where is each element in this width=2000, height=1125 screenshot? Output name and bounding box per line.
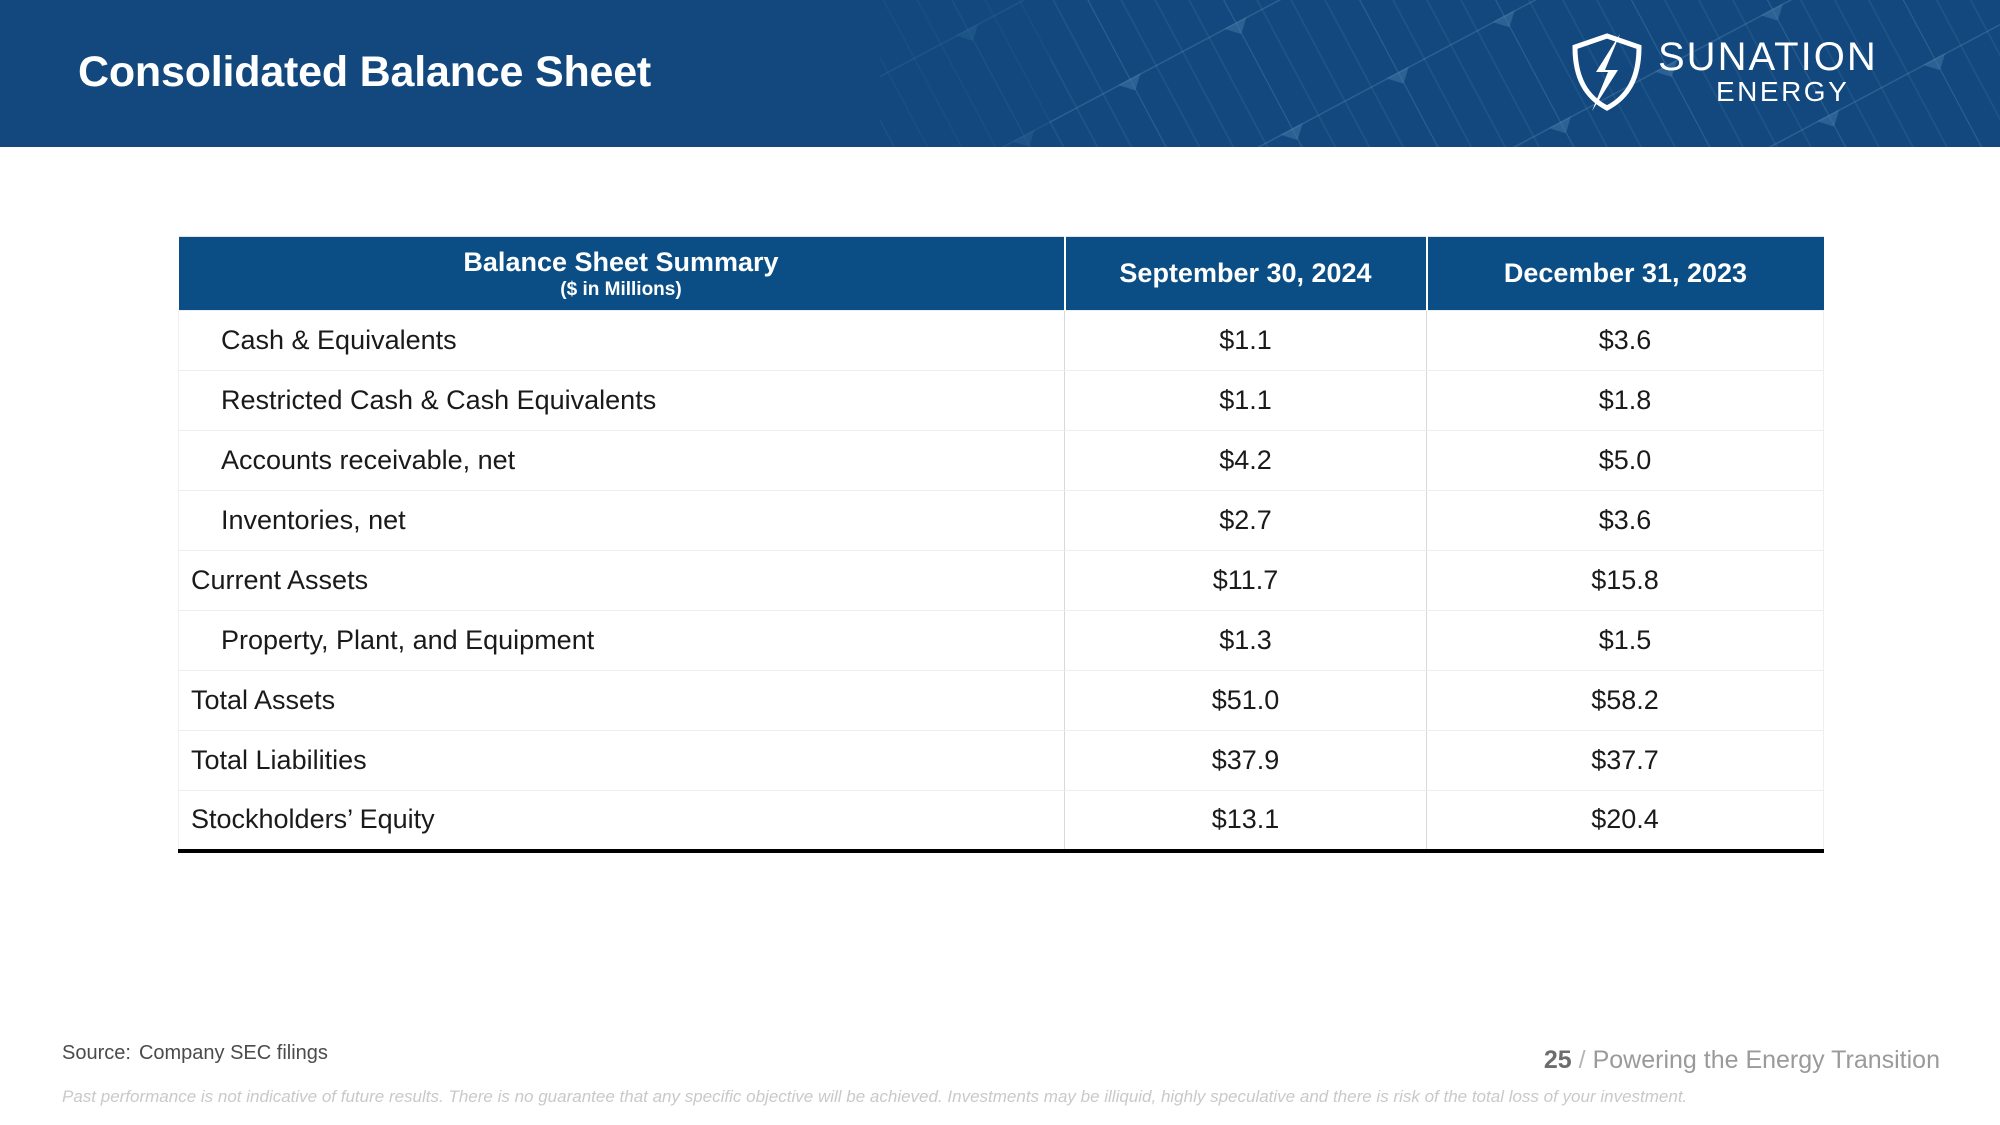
- table-body: Cash & Equivalents$1.1$3.6Restricted Cas…: [179, 311, 1824, 851]
- row-value-period-1: $1.1: [1065, 311, 1427, 371]
- table-row: Total Liabilities$37.9$37.7: [179, 731, 1824, 791]
- logo-secondary-text: ENERGY: [1716, 76, 1849, 105]
- column-header-summary: Balance Sheet Summary ($ in Millions): [179, 237, 1065, 311]
- table-header-row: Balance Sheet Summary ($ in Millions) Se…: [179, 237, 1824, 311]
- table-row: Property, Plant, and Equipment$1.3$1.5: [179, 611, 1824, 671]
- row-label: Cash & Equivalents: [179, 311, 1065, 371]
- row-label: Accounts receivable, net: [179, 431, 1065, 491]
- row-value-period-2: $15.8: [1427, 551, 1824, 611]
- row-value-period-2: $20.4: [1427, 791, 1824, 851]
- row-label: Property, Plant, and Equipment: [179, 611, 1065, 671]
- row-value-period-1: $37.9: [1065, 731, 1427, 791]
- row-value-period-2: $5.0: [1427, 431, 1824, 491]
- page-tagline: Powering the Energy Transition: [1593, 1046, 1940, 1075]
- row-value-period-1: $51.0: [1065, 671, 1427, 731]
- row-label: Restricted Cash & Cash Equivalents: [179, 371, 1065, 431]
- row-value-period-2: $37.7: [1427, 731, 1824, 791]
- page-number: 25: [1544, 1046, 1572, 1075]
- row-label: Inventories, net: [179, 491, 1065, 551]
- balance-sheet-table: Balance Sheet Summary ($ in Millions) Se…: [178, 236, 1824, 853]
- table-row: Accounts receivable, net$4.2$5.0: [179, 431, 1824, 491]
- table-row: Current Assets$11.7$15.8: [179, 551, 1824, 611]
- table-row: Restricted Cash & Cash Equivalents$1.1$1…: [179, 371, 1824, 431]
- table-row: Stockholders’ Equity$13.1$20.4: [179, 791, 1824, 851]
- row-value-period-1: $1.3: [1065, 611, 1427, 671]
- column-header-period-2: December 31, 2023: [1427, 237, 1824, 311]
- row-label: Stockholders’ Equity: [179, 791, 1065, 851]
- page-separator: /: [1579, 1046, 1586, 1075]
- row-value-period-1: $11.7: [1065, 551, 1427, 611]
- row-value-period-2: $58.2: [1427, 671, 1824, 731]
- row-value-period-1: $2.7: [1065, 491, 1427, 551]
- logo-primary-text: SUNATION: [1658, 39, 1878, 79]
- row-label: Total Assets: [179, 671, 1065, 731]
- row-value-period-2: $3.6: [1427, 491, 1824, 551]
- row-value-period-2: $3.6: [1427, 311, 1824, 371]
- page-title: Consolidated Balance Sheet: [78, 48, 651, 97]
- balance-sheet-table-container: Balance Sheet Summary ($ in Millions) Se…: [178, 236, 1823, 853]
- company-logo: SUNATION ENERGY: [1570, 32, 1958, 112]
- logo-wordmark: SUNATION ENERGY: [1658, 39, 1958, 105]
- column-header-period-1: September 30, 2024: [1065, 237, 1427, 311]
- source-label: Source:: [62, 1042, 131, 1064]
- row-label: Total Liabilities: [179, 731, 1065, 791]
- table-header: Balance Sheet Summary ($ in Millions) Se…: [179, 237, 1824, 311]
- row-label: Current Assets: [179, 551, 1065, 611]
- column-header-summary-units: ($ in Millions): [187, 279, 1056, 300]
- shield-lightning-icon: [1570, 32, 1644, 112]
- column-header-summary-main: Balance Sheet Summary: [463, 247, 778, 277]
- table-row: Cash & Equivalents$1.1$3.6: [179, 311, 1824, 371]
- table-row: Inventories, net$2.7$3.6: [179, 491, 1824, 551]
- source-value: Company SEC filings: [139, 1042, 328, 1064]
- row-value-period-2: $1.8: [1427, 371, 1824, 431]
- row-value-period-1: $4.2: [1065, 431, 1427, 491]
- table-row: Total Assets$51.0$58.2: [179, 671, 1824, 731]
- row-value-period-1: $1.1: [1065, 371, 1427, 431]
- source-line: Source:Company SEC filings: [62, 1042, 328, 1065]
- row-value-period-2: $1.5: [1427, 611, 1824, 671]
- page-footer-tag: 25 / Powering the Energy Transition: [1544, 1046, 1940, 1075]
- slide-header-band: Consolidated Balance Sheet SUNATION ENER…: [0, 0, 2000, 147]
- disclaimer-text: Past performance is not indicative of fu…: [62, 1087, 1687, 1107]
- row-value-period-1: $13.1: [1065, 791, 1427, 851]
